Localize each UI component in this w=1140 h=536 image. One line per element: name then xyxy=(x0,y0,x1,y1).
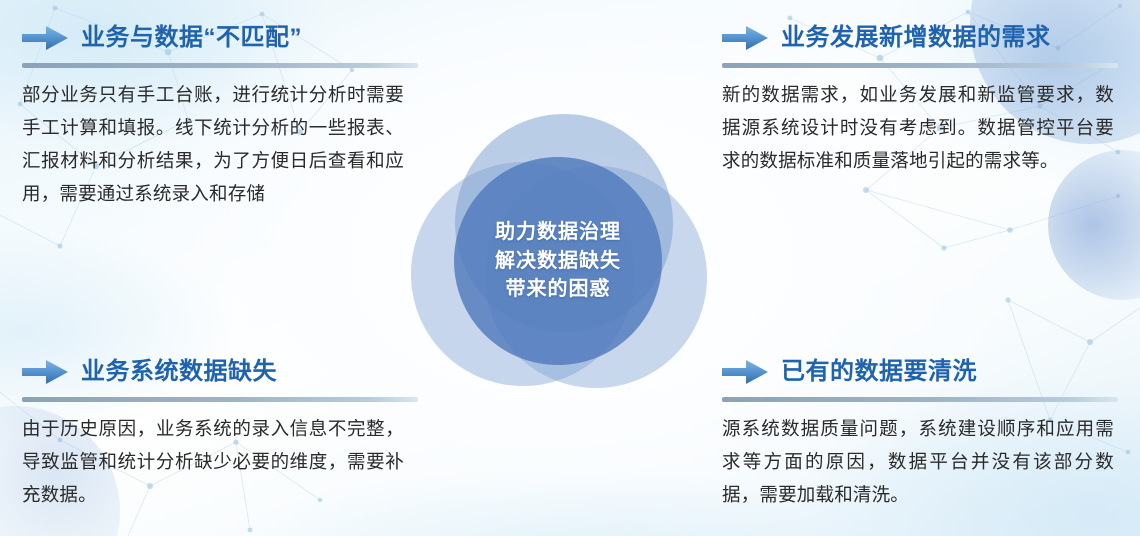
center-statement-line-3: 带来的困惑 xyxy=(506,275,611,303)
center-venn-graphic: 助力数据治理 解决数据缺失 带来的困惑 xyxy=(411,114,711,404)
panel-body-text: 由于历史原因，业务系统的录入信息不完整，导致监管和统计分析缺少必要的维度，需要补… xyxy=(22,413,404,512)
panel-header: 业务系统数据缺失 xyxy=(22,352,422,392)
panel-body-text: 部分业务只有手工台账，进行统计分析时需要手工计算和填报。线下统计分析的一些报表、… xyxy=(22,79,404,211)
panel-title: 业务系统数据缺失 xyxy=(81,360,277,384)
panel-title: 业务发展新增数据的需求 xyxy=(781,26,1051,50)
panel-business-data-mismatch: 业务与数据“不匹配” 部分业务只有手工台账，进行统计分析时需要手工计算和填报。线… xyxy=(22,18,422,211)
arrow-right-icon xyxy=(722,25,768,51)
center-statement-line-1: 助力数据治理 xyxy=(495,218,621,246)
panel-body-text: 新的数据需求，如业务发展和新监管要求，数据源系统设计时没有考虑到。数据管控平台要… xyxy=(722,79,1114,178)
panel-title: 业务与数据“不匹配” xyxy=(81,26,302,50)
arrow-right-icon xyxy=(22,359,68,385)
center-statement-line-2: 解决数据缺失 xyxy=(495,247,621,275)
panel-header: 业务与数据“不匹配” xyxy=(22,18,422,58)
arrow-right-icon xyxy=(722,359,768,385)
panel-body-text: 源系统数据质量问题，系统建设顺序和应用需求等方面的原因，数据平台并没有该部分数据… xyxy=(722,413,1114,512)
panel-business-system-data-missing: 业务系统数据缺失 由于历史原因，业务系统的录入信息不完整，导致监管和统计分析缺少… xyxy=(22,352,422,512)
panel-existing-data-cleaning: 已有的数据要清洗 源系统数据质量问题，系统建设顺序和应用需求等方面的原因，数据平… xyxy=(722,352,1122,512)
slide-canvas: 助力数据治理 解决数据缺失 带来的困惑 业务与数据“不匹配” 部分业务只有手工台… xyxy=(0,0,1140,536)
arrow-right-icon xyxy=(22,25,68,51)
panel-header: 业务发展新增数据的需求 xyxy=(722,18,1122,58)
panel-new-data-demand: 业务发展新增数据的需求 新的数据需求，如业务发展和新监管要求，数据源系统设计时没… xyxy=(722,18,1122,178)
panel-divider xyxy=(722,63,1118,68)
panel-divider xyxy=(22,63,418,68)
center-statement: 助力数据治理 解决数据缺失 带来的困惑 xyxy=(454,157,662,365)
panel-header: 已有的数据要清洗 xyxy=(722,352,1122,392)
panel-divider xyxy=(22,397,418,402)
panel-title: 已有的数据要清洗 xyxy=(781,360,977,384)
panel-divider xyxy=(722,397,1118,402)
